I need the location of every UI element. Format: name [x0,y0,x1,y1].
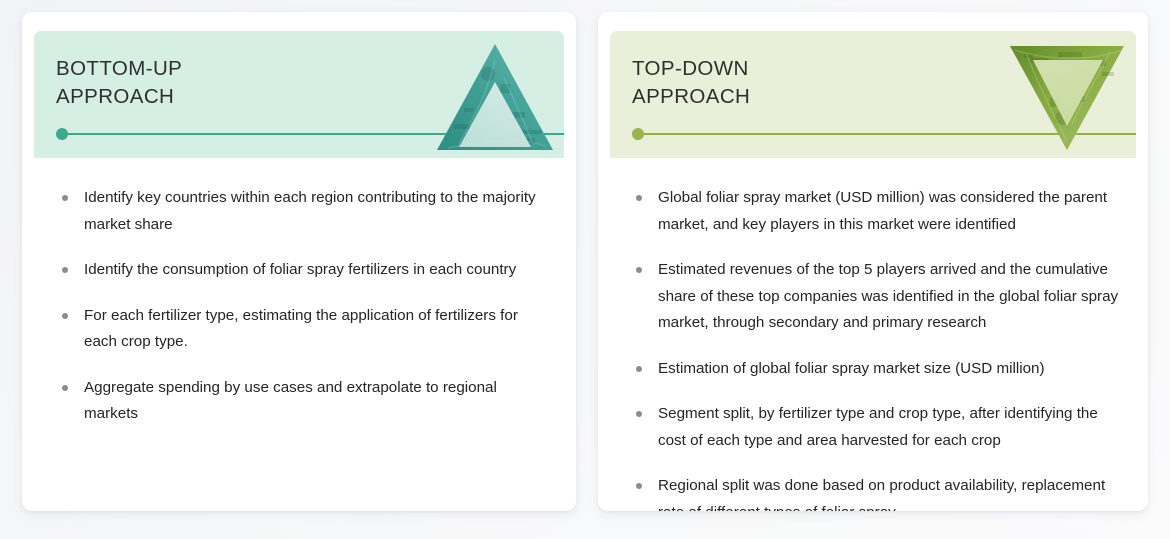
list-item-text: Aggregate spending by use cases and extr… [84,375,552,428]
panel-top-down-header: TOP-DOWN APPROACH [610,31,1136,158]
list-item-text: Identify key countries within each regio… [84,185,552,238]
panel-bottom-up-title: BOTTOM-UP APPROACH [56,55,182,111]
list-item: For each fertilizer type, estimating the… [22,303,552,356]
list-item: Global foliar spray market (USD million)… [598,185,1124,238]
panel-top-down-title: TOP-DOWN APPROACH [632,55,750,111]
triangle-up-icon [434,38,556,158]
bullet-dot-icon [636,366,642,372]
panel-bottom-up-bullet-list: Identify key countries within each regio… [22,185,576,428]
bullet-dot-icon [636,483,642,489]
list-item: Aggregate spending by use cases and extr… [22,375,552,428]
accent-dot [632,128,644,140]
bullet-dot-icon [636,267,642,273]
bullet-dot-icon [62,267,68,273]
panel-bottom-up-header: BOTTOM-UP APPROACH [34,31,564,158]
approach-cards-container: BOTTOM-UP APPROACH [0,0,1170,539]
list-item: Regional split was done based on product… [598,473,1124,511]
bullet-dot-icon [62,385,68,391]
list-item-text: Segment split, by fertilizer type and cr… [658,401,1124,454]
list-item: Identify key countries within each regio… [22,185,552,238]
bullet-dot-icon [62,195,68,201]
list-item-text: Global foliar spray market (USD million)… [658,185,1124,238]
panel-bottom-up: BOTTOM-UP APPROACH [22,12,576,511]
list-item: Estimated revenues of the top 5 players … [598,257,1124,337]
list-item-text: For each fertilizer type, estimating the… [84,303,552,356]
list-item: Identify the consumption of foliar spray… [22,257,552,284]
list-item-text: Regional split was done based on product… [658,473,1124,511]
triangle-down-icon [1006,38,1128,158]
bullet-dot-icon [62,313,68,319]
panel-top-down: TOP-DOWN APPROACH [598,12,1148,511]
list-item-text: Estimated revenues of the top 5 players … [658,257,1124,337]
bullet-dot-icon [636,195,642,201]
list-item-text: Estimation of global foliar spray market… [658,356,1124,383]
accent-dot [56,128,68,140]
bullet-dot-icon [636,411,642,417]
list-item: Estimation of global foliar spray market… [598,356,1124,383]
panel-top-down-bullet-list: Global foliar spray market (USD million)… [598,185,1148,511]
list-item: Segment split, by fertilizer type and cr… [598,401,1124,454]
list-item-text: Identify the consumption of foliar spray… [84,257,552,284]
